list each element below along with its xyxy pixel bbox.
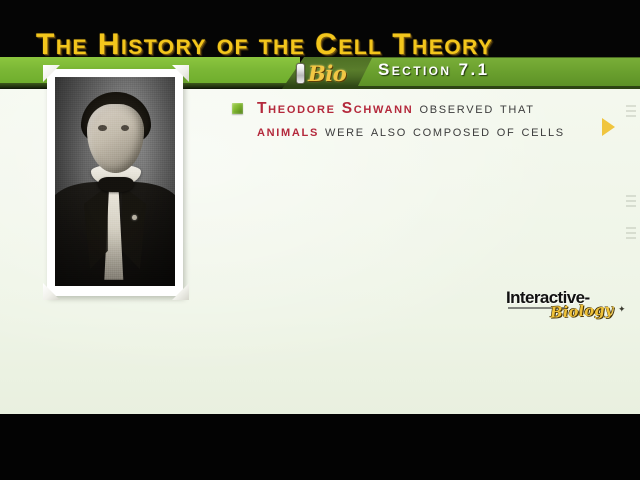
watermark-secondary-text: Biology <box>550 300 614 321</box>
green-square-bullet-icon <box>232 103 243 114</box>
ibio-logo: Bio <box>296 58 362 88</box>
bullet-plain-2: were also composed of cells <box>319 123 565 140</box>
portrait-photo-frame <box>47 69 183 296</box>
bullet-emphasis-name: Theodore Schwann <box>257 100 413 117</box>
video-player-viewport: Bio Section 7.1 The History of the Cell … <box>0 0 640 480</box>
sparkle-icon: ✦ <box>618 304 626 315</box>
portrait-film-grain <box>55 77 175 286</box>
letterbox-bar-bottom <box>0 414 640 480</box>
test-tube-icon <box>296 63 305 84</box>
section-label: Section 7.1 <box>378 60 489 80</box>
bullet-emphasis-animals: animals <box>257 123 319 140</box>
bullet-plain-1: observed that <box>413 100 534 117</box>
ibio-logo-word: Bio <box>308 63 346 84</box>
offslide-arrow-marker <box>602 118 615 136</box>
interactive-biology-watermark: Interactive- Biology ✦ <box>506 288 630 322</box>
list-item: Theodore Schwann observed that animals w… <box>232 97 592 143</box>
offslide-edge-marks <box>624 99 640 299</box>
page-title: The History of the Cell Theory <box>36 28 494 62</box>
portrait-photo-image <box>55 77 175 286</box>
bullet-text: Theodore Schwann observed that animals w… <box>257 97 592 143</box>
